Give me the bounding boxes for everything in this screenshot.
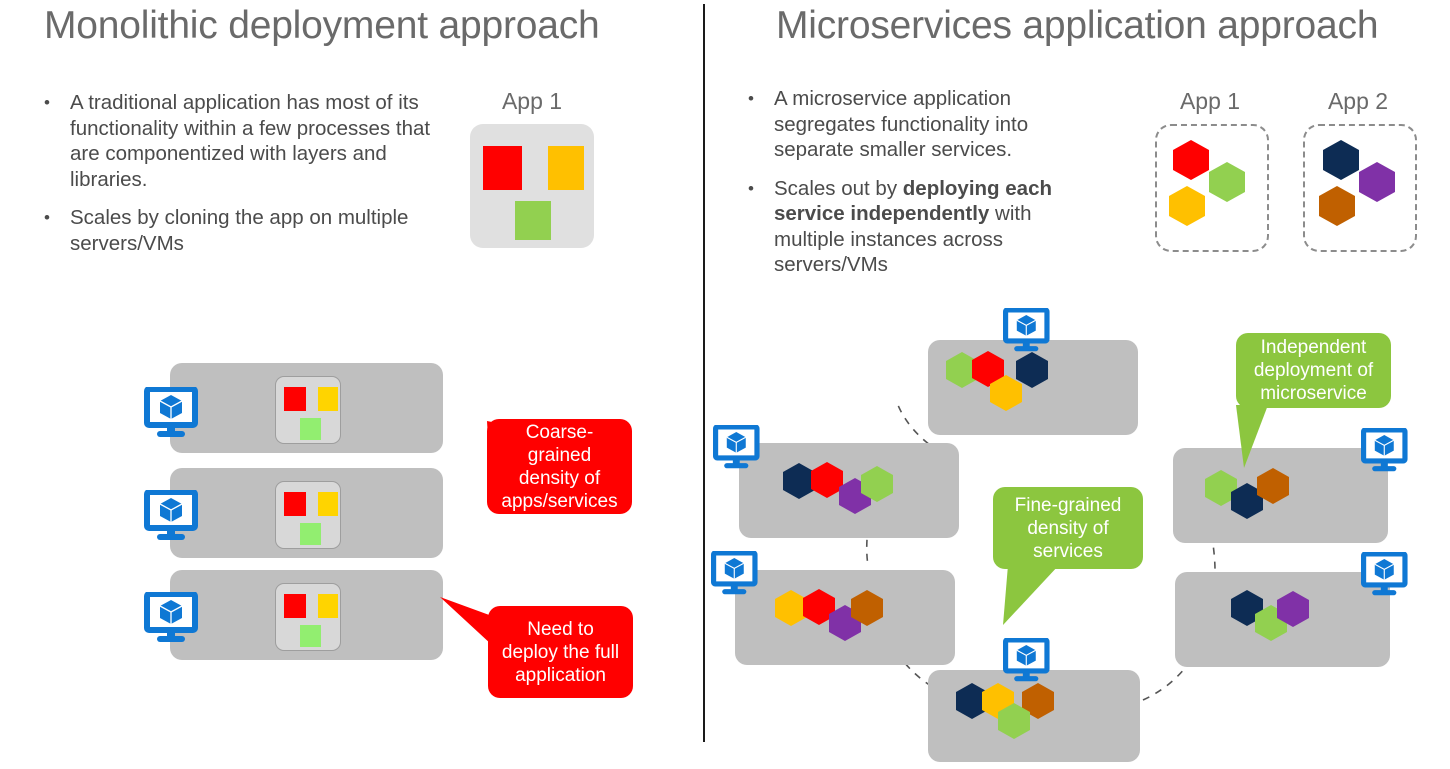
service-hexagon-navy — [1323, 140, 1359, 180]
bullet-dot-icon: • — [748, 86, 774, 163]
app-2-container — [1303, 124, 1417, 252]
component-green — [300, 418, 321, 440]
server-3 — [170, 570, 443, 660]
service-hexagon-gold — [1169, 186, 1205, 226]
callout-text: Fine-grained density of services — [993, 494, 1143, 563]
cluster-server-left-lower — [735, 570, 955, 665]
monitor-icon — [144, 592, 202, 650]
service-hexagon-purple — [1359, 162, 1395, 202]
list-item: • Scales by cloning the app on multiple … — [44, 205, 454, 256]
deploy-callout-tail — [440, 597, 492, 645]
cluster-server-right-lower — [1175, 572, 1390, 667]
service-hexagon-green — [1209, 162, 1245, 202]
monolithic-panel: Monolithic deployment approach • A tradi… — [0, 0, 703, 769]
component-gold — [548, 146, 584, 190]
server-2 — [170, 468, 443, 558]
component-gold — [318, 492, 338, 516]
app-label-monolith: App 1 — [470, 88, 594, 115]
server-1 — [170, 363, 443, 453]
bullet-dot-icon: • — [44, 205, 70, 256]
deployed-app-1 — [275, 376, 341, 444]
monitor-icon — [1361, 428, 1411, 479]
service-hexagon-gold — [775, 590, 807, 626]
monitor-icon — [144, 490, 202, 548]
fine-grained-callout: Fine-grained density of services — [993, 487, 1143, 569]
monitor-icon — [1361, 552, 1411, 603]
deployed-app-3 — [275, 583, 341, 651]
monitor-icon — [1003, 308, 1053, 359]
cluster-server-right-upper — [1173, 448, 1388, 543]
bullet-dot-icon: • — [44, 90, 70, 192]
component-gold — [318, 594, 338, 618]
monitor-icon — [144, 387, 202, 445]
service-hexagon-red — [1173, 140, 1209, 180]
list-item: • Scales out by deploying each service i… — [748, 176, 1103, 278]
bullet-text-pre: Scales out by — [774, 177, 903, 200]
list-item: • A microservice application segregates … — [748, 86, 1103, 163]
monolith-app-box — [470, 124, 594, 248]
callout-text: Coarse-grained density of apps/services — [487, 421, 632, 513]
callout-text: Independent deployment of microservice — [1236, 336, 1391, 405]
bullet-text: Scales by cloning the app on multiple se… — [70, 205, 454, 256]
component-red — [284, 387, 306, 411]
component-green — [300, 523, 321, 545]
app-2-label: App 2 — [1303, 88, 1413, 115]
monolithic-bullet-list: • A traditional application has most of … — [44, 90, 454, 269]
microservices-panel: Microservices application approach • A m… — [703, 0, 1450, 769]
service-hexagon-navy — [783, 463, 815, 499]
bullet-text: A microservice application segregates fu… — [774, 86, 1103, 163]
component-green — [300, 625, 321, 647]
monitor-icon — [711, 551, 761, 602]
service-hexagon-brown — [1319, 186, 1355, 226]
independent-deployment-callout: Independent deployment of microservice — [1236, 333, 1391, 408]
monitor-icon — [1003, 638, 1053, 689]
page-title-monolithic: Monolithic deployment approach — [44, 4, 600, 48]
deployed-app-2 — [275, 481, 341, 549]
microservices-bullet-list: • A microservice application segregates … — [748, 86, 1103, 291]
list-item: • A traditional application has most of … — [44, 90, 454, 192]
fine-grained-callout-tail — [1003, 565, 1059, 625]
app-1-label: App 1 — [1155, 88, 1265, 115]
bullet-text: Scales out by deploying each service ind… — [774, 176, 1103, 278]
component-red — [483, 146, 522, 190]
component-green — [515, 201, 551, 240]
callout-text: Need to deploy the full application — [488, 618, 633, 687]
component-red — [284, 594, 306, 618]
bullet-dot-icon: • — [748, 176, 774, 278]
coarse-grained-callout: Coarse-grained density of apps/services — [487, 419, 632, 514]
component-gold — [318, 387, 338, 411]
bullet-text: A traditional application has most of it… — [70, 90, 454, 192]
need-to-deploy-callout: Need to deploy the full application — [488, 606, 633, 698]
monitor-icon — [713, 425, 763, 476]
service-hexagon-red — [811, 462, 843, 498]
app-1-container — [1155, 124, 1269, 252]
cluster-server-left-upper — [739, 443, 959, 538]
component-red — [284, 492, 306, 516]
page-title-microservices: Microservices application approach — [776, 4, 1378, 48]
